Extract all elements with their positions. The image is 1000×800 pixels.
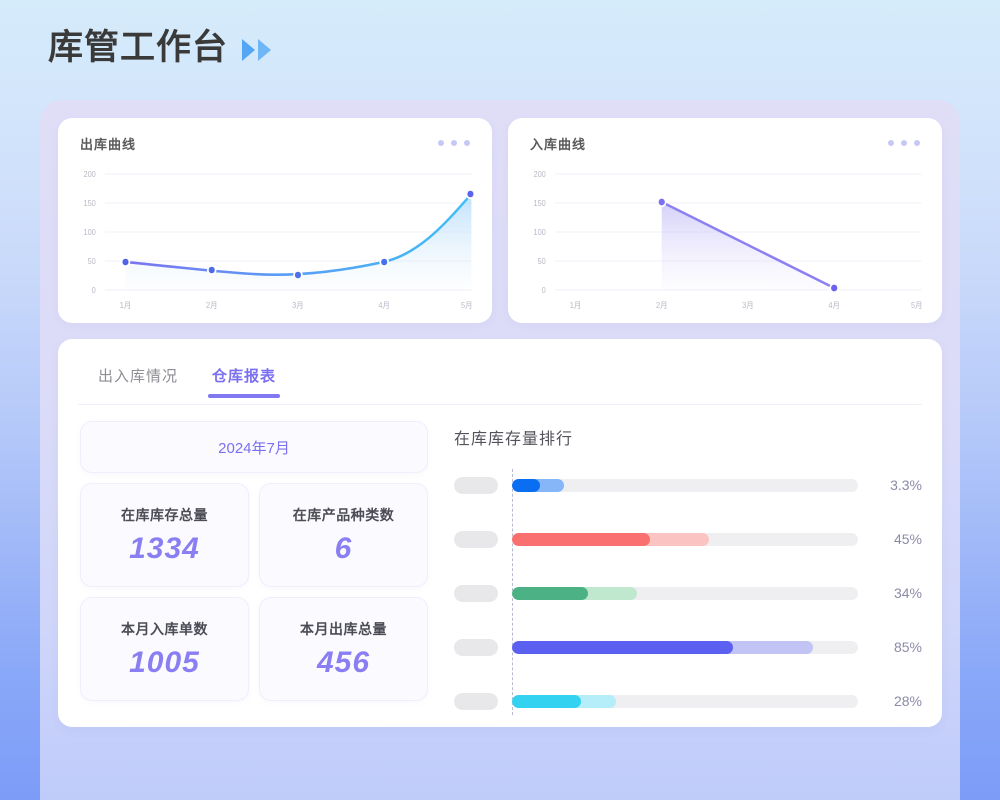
inbound-chart-plot: 200 150 100 50 0 1月 2月 3月 4月 5月 xyxy=(518,160,926,315)
svg-text:3月: 3月 xyxy=(742,301,754,310)
ranking-bar-dark xyxy=(512,587,588,600)
inbound-chart-header: 入库曲线 xyxy=(518,132,926,154)
ranking-bar-track xyxy=(512,587,858,600)
ranking-bar-track xyxy=(512,479,858,492)
more-dots-icon[interactable] xyxy=(888,140,920,146)
stat-label: 在库产品种类数 xyxy=(293,505,395,525)
svg-text:1月: 1月 xyxy=(120,301,132,310)
svg-text:1月: 1月 xyxy=(570,301,582,310)
ranking-percent: 34% xyxy=(868,585,922,601)
svg-text:50: 50 xyxy=(88,257,96,266)
ranking-title: 在库库存量排行 xyxy=(454,425,922,449)
ranking-percent: 45% xyxy=(868,531,922,547)
stat-value: 6 xyxy=(335,532,353,566)
svg-text:5月: 5月 xyxy=(461,301,473,310)
stat-label: 本月入库单数 xyxy=(121,619,208,639)
ranking-row[interactable]: 45% xyxy=(454,521,922,557)
svg-text:0: 0 xyxy=(92,286,96,295)
dashboard-panel: 出库曲线 xyxy=(40,100,960,800)
ranking-percent: 85% xyxy=(868,639,922,655)
ranking-row[interactable]: 34% xyxy=(454,575,922,611)
ranking-name-placeholder xyxy=(454,585,498,602)
stat-label: 本月出库总量 xyxy=(300,619,387,639)
arrow-icon-1 xyxy=(242,39,255,61)
stat-value: 1334 xyxy=(129,532,200,566)
svg-text:200: 200 xyxy=(83,170,95,179)
charts-row: 出库曲线 xyxy=(58,118,942,323)
ranking-row[interactable]: 28% xyxy=(454,683,922,719)
outbound-chart-card: 出库曲线 xyxy=(58,118,492,323)
tab-bar: 出入库情况 仓库报表 xyxy=(78,355,922,405)
month-selector[interactable]: 2024年7月 xyxy=(80,421,428,473)
outbound-chart-title: 出库曲线 xyxy=(80,134,136,153)
stat-value: 1005 xyxy=(129,646,200,680)
inbound-line-chart: 200 150 100 50 0 1月 2月 3月 4月 5月 xyxy=(518,160,926,315)
ranking-percent: 3.3% xyxy=(868,477,922,493)
ranking-bar-track xyxy=(512,695,858,708)
stat-card-product-types[interactable]: 在库产品种类数 6 xyxy=(259,483,428,587)
report-body: 2024年7月 在库库存总量 1334 在库产品种类数 6 本月入库单数 100… xyxy=(78,405,922,719)
month-label: 2024年7月 xyxy=(218,437,290,458)
page-header: 库管工作台 xyxy=(48,30,271,65)
ranking-name-placeholder xyxy=(454,639,498,656)
svg-text:150: 150 xyxy=(533,199,545,208)
stat-label: 在库库存总量 xyxy=(121,505,208,525)
report-card: 出入库情况 仓库报表 2024年7月 在库库存总量 1334 在库产品种类数 6 xyxy=(58,339,942,727)
ranking-row[interactable]: 85% xyxy=(454,629,922,665)
svg-text:150: 150 xyxy=(83,199,95,208)
ranking-list: 3.3% 45% xyxy=(454,467,922,719)
ranking-bar-track xyxy=(512,641,858,654)
svg-text:2月: 2月 xyxy=(206,301,218,310)
ranking-bar-dark xyxy=(512,533,650,546)
svg-text:4月: 4月 xyxy=(828,301,840,310)
svg-text:4月: 4月 xyxy=(378,301,390,310)
svg-text:50: 50 xyxy=(538,257,546,266)
ranking-name-placeholder xyxy=(454,693,498,710)
svg-text:200: 200 xyxy=(533,170,545,179)
outbound-chart-header: 出库曲线 xyxy=(68,132,476,154)
stat-card-total-stock[interactable]: 在库库存总量 1334 xyxy=(80,483,249,587)
stat-card-outbound-total[interactable]: 本月出库总量 456 xyxy=(259,597,428,701)
stat-grid: 在库库存总量 1334 在库产品种类数 6 本月入库单数 1005 本月出库总量… xyxy=(80,483,428,701)
svg-text:2月: 2月 xyxy=(656,301,668,310)
outbound-chart-plot: 200 150 100 50 0 1月 2月 xyxy=(68,160,476,315)
ranking-bar-dark xyxy=(512,479,540,492)
double-right-arrow-icon xyxy=(242,39,271,61)
stat-card-inbound-orders[interactable]: 本月入库单数 1005 xyxy=(80,597,249,701)
tab-warehouse-report[interactable]: 仓库报表 xyxy=(212,365,276,398)
outbound-line-chart: 200 150 100 50 0 1月 2月 xyxy=(68,160,476,315)
page-title: 库管工作台 xyxy=(48,30,228,65)
svg-text:5月: 5月 xyxy=(911,301,923,310)
svg-text:3月: 3月 xyxy=(292,301,304,310)
ranking-bar-dark xyxy=(512,641,733,654)
svg-text:0: 0 xyxy=(542,286,546,295)
ranking-name-placeholder xyxy=(454,531,498,548)
arrow-icon-2 xyxy=(258,39,271,61)
ranking-bar-dark xyxy=(512,695,581,708)
ranking-column: 在库库存量排行 3.3% xyxy=(446,421,922,719)
stats-column: 2024年7月 在库库存总量 1334 在库产品种类数 6 本月入库单数 100… xyxy=(78,421,428,719)
inbound-chart-card: 入库曲线 200 150 xyxy=(508,118,942,323)
svg-text:100: 100 xyxy=(533,228,545,237)
inbound-chart-title: 入库曲线 xyxy=(530,134,586,153)
svg-text:100: 100 xyxy=(83,228,95,237)
ranking-percent: 28% xyxy=(868,693,922,709)
ranking-name-placeholder xyxy=(454,477,498,494)
tab-inout-status[interactable]: 出入库情况 xyxy=(98,365,178,398)
stat-value: 456 xyxy=(317,646,370,680)
more-dots-icon[interactable] xyxy=(438,140,470,146)
ranking-bar-track xyxy=(512,533,858,546)
ranking-row[interactable]: 3.3% xyxy=(454,467,922,503)
